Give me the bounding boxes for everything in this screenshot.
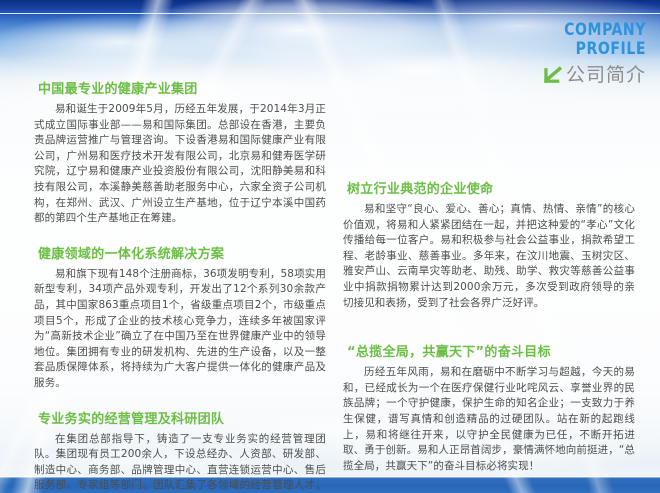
brand-english-line1: COMPANY: [564, 20, 646, 40]
section-paragraph: 易和坚守“良心、爱心、善心；真情、热情、亲情”的核心价值观，将易和人紧紧团结在一…: [343, 202, 635, 311]
left-content-column: 中国最专业的健康产业集团 易和诞生于2009年5月，历经五年发展，于2014年3…: [34, 78, 326, 493]
brand-english-line2: PROFILE: [549, 41, 646, 58]
section-block: 专业务实的经营管理及科研团队 在集团总部指导下，铸造了一支专业务实的经营管理团队…: [34, 408, 326, 493]
section-paragraph: 历经五年风雨，易和在磨砺中不断学习与超越，今天的易和，已经成长为一个在医疗保健行…: [343, 365, 635, 474]
section-heading: 专业务实的经营管理及科研团队: [38, 408, 326, 427]
company-profile-page: COMPANY PROFILE 公司简介 中国最专业的健康产业集团 易和诞生于2…: [0, 0, 660, 493]
section-heading: 健康领域的一体化系统解决方案: [38, 243, 326, 262]
section-paragraph: 易和旗下现有148个注册商标，36项发明专利，58项实用新型专利，34项产品外观…: [34, 267, 326, 392]
section-paragraph: 在集团总部指导下，铸造了一支专业务实的经营管理团队。集团现有员工200余人，下设…: [34, 432, 326, 493]
arrow-down-left-icon: [541, 64, 563, 86]
brand-chinese-row: 公司简介: [541, 64, 646, 86]
section-block: 中国最专业的健康产业集团 易和诞生于2009年5月，历经五年发展，于2014年3…: [34, 78, 326, 227]
brand-chinese-title: 公司简介: [566, 66, 646, 85]
section-block: 树立行业典范的企业使命 易和坚守“良心、爱心、善心；真情、热情、亲情”的核心价值…: [343, 178, 635, 311]
section-block: 健康领域的一体化系统解决方案 易和旗下现有148个注册商标，36项发明专利，58…: [34, 243, 326, 392]
brand-english-title: COMPANY PROFILE: [549, 22, 646, 58]
section-block: “总揽全局，共赢天下”的奋斗目标 历经五年风雨，易和在磨砺中不断学习与超越，今天…: [343, 341, 635, 474]
section-spacer: [343, 327, 635, 341]
section-heading: 中国最专业的健康产业集团: [38, 78, 326, 97]
section-heading: “总揽全局，共赢天下”的奋斗目标: [347, 341, 635, 360]
right-content-column: 树立行业典范的企业使命 易和坚守“良心、爱心、善心；真情、热情、亲情”的核心价值…: [343, 178, 635, 490]
section-heading: 树立行业典范的企业使命: [347, 178, 635, 197]
section-paragraph: 易和诞生于2009年5月，历经五年发展，于2014年3月正式成立国际事业部——易…: [34, 102, 326, 227]
top-divider-line: [0, 13, 660, 14]
brand-header: COMPANY PROFILE 公司简介: [541, 22, 646, 86]
